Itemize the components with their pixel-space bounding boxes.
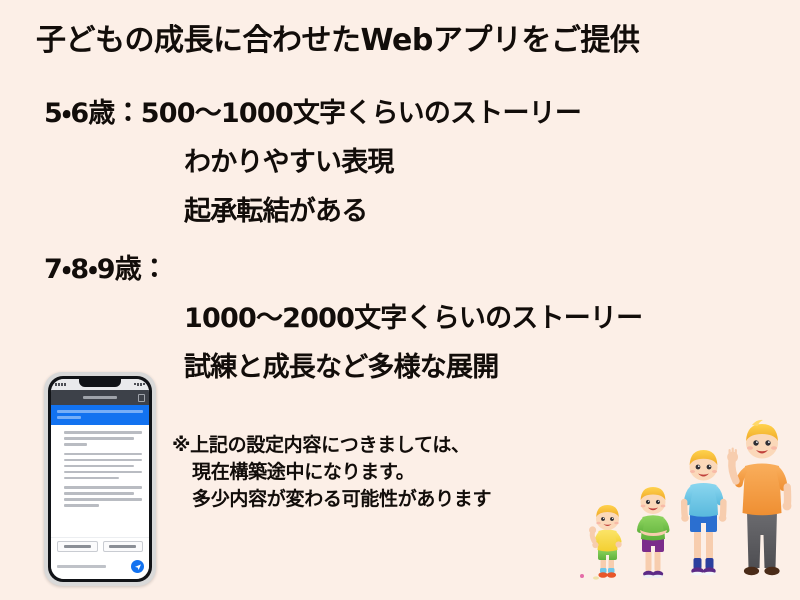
note-line: 現在構築途中になります。	[172, 459, 491, 486]
waving-hand-icon	[727, 448, 738, 463]
age-group-line: 5・6歳：500〜1000文字くらいのストーリー	[44, 100, 581, 127]
age-group-line: 起承転結がある	[44, 198, 581, 225]
age-group-5-6: 5・6歳：500〜1000文字くらいのストーリー わかりやすい表現 起承転結があ…	[44, 100, 581, 225]
action-button-label	[64, 545, 91, 548]
paper-plane-icon	[134, 563, 142, 571]
age-group-line: 1000〜2000文字くらいのストーリー	[44, 305, 642, 332]
phone-notch	[79, 379, 121, 387]
text-line	[64, 504, 99, 507]
phone-body	[48, 376, 152, 582]
status-time-icon	[55, 383, 66, 386]
chat-action-buttons	[51, 537, 149, 556]
text-line	[64, 492, 134, 495]
chat-message-list[interactable]	[51, 425, 149, 537]
app-bar-title	[83, 396, 117, 399]
send-button[interactable]	[131, 560, 144, 573]
bubble-text-line	[57, 410, 143, 413]
page-title: 子どもの成長に合わせたWebアプリをご提供	[36, 24, 639, 57]
message-input-placeholder	[57, 565, 106, 568]
figure-teen	[727, 420, 791, 575]
ground-dot	[593, 576, 599, 579]
text-line	[64, 486, 142, 489]
action-button-1[interactable]	[57, 541, 98, 552]
chat-bubble-user	[51, 405, 149, 425]
text-line	[64, 477, 119, 480]
figure-preteen	[681, 450, 726, 575]
text-line	[64, 443, 87, 446]
figure-child	[637, 487, 670, 578]
ground-dot	[580, 574, 584, 578]
chat-paragraph	[64, 453, 142, 480]
text-line	[64, 471, 142, 474]
status-signal-battery-icon	[134, 383, 145, 386]
disclaimer-note: ※上記の設定内容につきましては、 現在構築途中になります。 多少内容が変わる可能…	[172, 432, 491, 513]
text-line	[64, 431, 142, 434]
note-line: 多少内容が変わる可能性があります	[172, 486, 491, 513]
age-group-line: わかりやすい表現	[44, 149, 581, 176]
chat-composer	[51, 556, 149, 579]
action-button-label	[109, 545, 136, 548]
phone-mockup	[44, 372, 156, 586]
text-line	[64, 498, 142, 501]
slide-canvas: 子どもの成長に合わせたWebアプリをご提供 5・6歳：500〜1000文字くらい…	[0, 0, 800, 600]
children-growth-illustration	[580, 418, 800, 600]
text-line	[64, 459, 142, 462]
bubble-text-line	[57, 416, 81, 419]
chat-paragraph	[64, 486, 142, 507]
phone-screen	[51, 379, 149, 579]
text-line	[64, 453, 142, 456]
text-line	[64, 465, 134, 468]
action-button-2[interactable]	[103, 541, 144, 552]
chat-paragraph	[64, 431, 142, 446]
age-group-7-8-9: 7・8・9歳： 1000〜2000文字くらいのストーリー 試練と成長など多様な展…	[44, 256, 642, 381]
text-line	[64, 437, 134, 440]
app-bar	[51, 390, 149, 405]
app-bar-menu-icon[interactable]	[138, 394, 145, 402]
message-input[interactable]	[57, 561, 127, 572]
age-group-line: 7・8・9歳：	[44, 256, 642, 283]
note-line: ※上記の設定内容につきましては、	[172, 432, 491, 459]
figure-toddler	[589, 505, 622, 578]
